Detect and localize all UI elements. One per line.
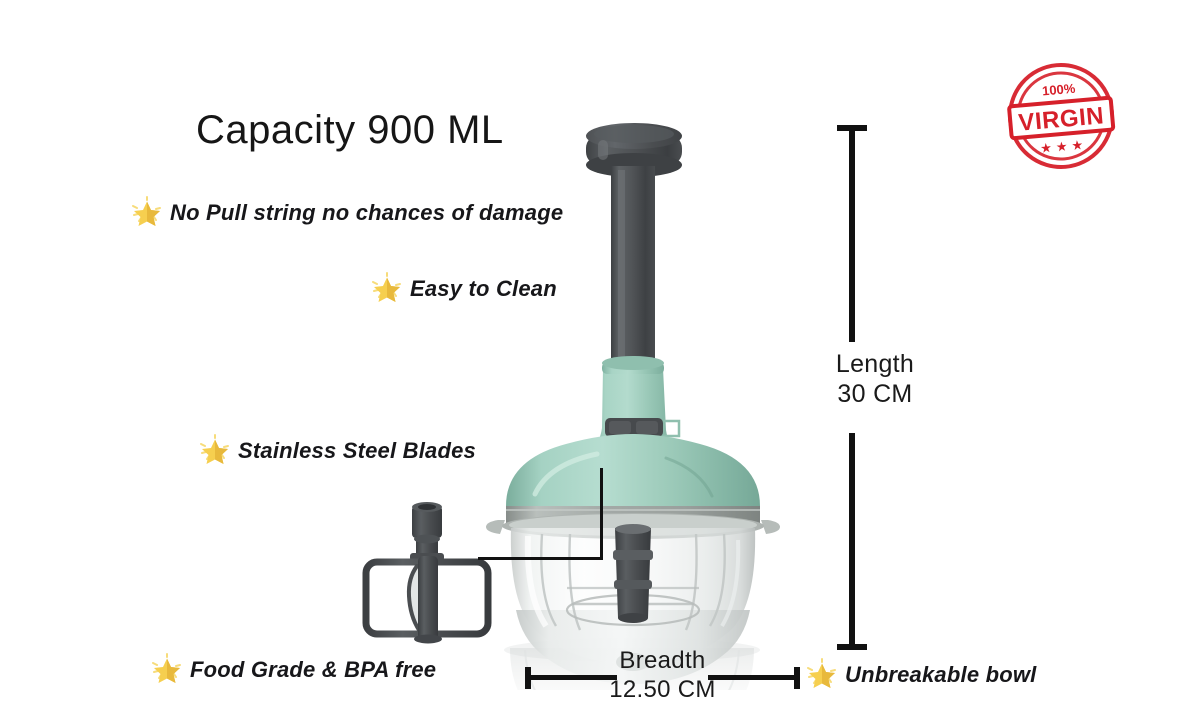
star-icon — [198, 434, 232, 468]
breadth-cap-right — [794, 667, 800, 689]
feature-item: Food Grade & BPA free — [150, 653, 436, 687]
leader-vertical-segment — [600, 468, 603, 557]
stamp-top-text: 100% — [1041, 81, 1076, 99]
switch-detail — [605, 418, 679, 437]
feature-item: Stainless Steel Blades — [198, 434, 476, 468]
breadth-value: 12.50 CM — [525, 676, 800, 705]
length-cap-bottom — [837, 644, 867, 650]
star-icon — [805, 658, 839, 692]
breadth-dimension: Breadth 12.50 CM — [525, 655, 800, 713]
feature-label: Food Grade & BPA free — [190, 657, 436, 683]
length-label: Length 30 CM — [790, 350, 960, 409]
length-title: Length — [790, 350, 960, 380]
star-icon — [370, 272, 404, 306]
infographic-canvas: Capacity 900 ML — [0, 0, 1200, 720]
feature-label: No Pull string no chances of damage — [170, 200, 563, 226]
feature-label: Easy to Clean — [410, 276, 557, 302]
feature-label: Stainless Steel Blades — [238, 438, 476, 464]
feature-label: Unbreakable bowl — [845, 662, 1036, 688]
length-line-lower — [849, 433, 855, 646]
virgin-stamp: 100% VIRGIN ★★★ — [1002, 57, 1120, 175]
star-icon — [130, 196, 164, 230]
length-dimension: Length 30 CM — [790, 125, 960, 650]
feature-item: Easy to Clean — [370, 272, 557, 306]
star-icon — [150, 653, 184, 687]
breadth-title: Breadth — [525, 647, 800, 676]
breadth-line-right — [708, 675, 796, 680]
leader-horizontal-segment — [478, 557, 603, 560]
blades-callout-leader — [478, 468, 603, 560]
length-value: 30 CM — [790, 380, 960, 410]
feature-item: Unbreakable bowl — [805, 658, 1036, 692]
feature-item: No Pull string no chances of damage — [130, 196, 563, 230]
length-line-upper — [849, 129, 855, 342]
